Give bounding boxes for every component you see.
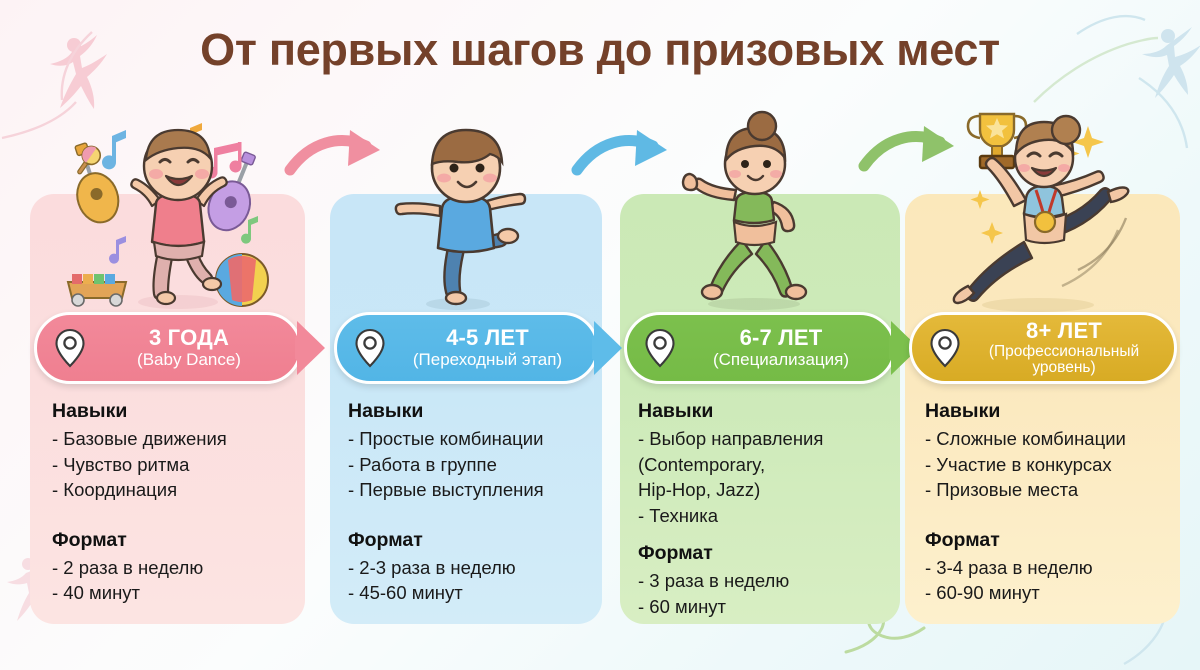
location-pin-icon (645, 329, 675, 367)
skills-list: - Выбор направления (Contemporary, Hip-H… (638, 426, 893, 528)
list-item: - Участие в конкурсах (925, 452, 1175, 478)
badge-subtitle: (Профессиональный уровень) (966, 344, 1162, 377)
list-item: - Простые комбинации (348, 426, 598, 452)
list-item: - 2 раза в неделю (52, 555, 302, 581)
connector-arrow-1 (297, 321, 325, 375)
stage-details-4-5-years: Навыки - Простые комбинации - Работа в г… (348, 400, 598, 606)
format-list: - 3-4 раза в неделю - 60-90 минут (925, 555, 1175, 606)
skills-list: - Базовые движения - Чувство ритма - Коо… (52, 426, 302, 503)
badge-age: 4-5 ЛЕТ (391, 326, 584, 350)
progress-arrow-2-icon (575, 126, 685, 186)
badge-text-group: 4-5 ЛЕТ (Переходный этап) (391, 326, 596, 369)
list-item: - 60 минут (638, 594, 893, 620)
illustration-toddler-dancing (38, 112, 308, 312)
list-item: - Техника (638, 503, 893, 529)
stage-details-3-years: Навыки - Базовые движения - Чувство ритм… (52, 400, 302, 606)
format-heading: Формат (52, 529, 302, 552)
stage-details-6-7-years: Навыки - Выбор направления (Contemporary… (638, 400, 893, 619)
progress-arrow-3-icon (862, 122, 972, 182)
badge-text-group: 6-7 ЛЕТ (Специализация) (681, 326, 893, 369)
format-heading: Формат (638, 542, 893, 565)
page-title: От первых шагов до призовых мест (0, 24, 1200, 76)
list-item: - Первые выступления (348, 477, 598, 503)
list-item: - 45-60 минут (348, 580, 598, 606)
list-item: - Выбор направления (Contemporary, Hip-H… (638, 426, 893, 503)
skills-heading: Навыки (925, 400, 1175, 423)
list-item: - 60-90 минут (925, 580, 1175, 606)
list-item: - 3 раза в неделю (638, 568, 893, 594)
badge-subtitle: (Переходный этап) (391, 351, 584, 369)
badge-age: 6-7 ЛЕТ (681, 326, 881, 350)
list-item: - Координация (52, 477, 302, 503)
list-item: - 2-3 раза в неделю (348, 555, 598, 581)
progress-arrow-1-icon (288, 126, 398, 186)
location-pin-icon (355, 329, 385, 367)
list-item: - Работа в группе (348, 452, 598, 478)
stage-badge-8-plus-years[interactable]: 8+ ЛЕТ (Профессиональный уровень) (909, 312, 1177, 384)
stage-badge-6-7-years[interactable]: 6-7 ЛЕТ (Специализация) (624, 312, 896, 384)
stage-badge-3-years[interactable]: 3 ГОДА (Baby Dance) (34, 312, 302, 384)
location-pin-icon (55, 329, 85, 367)
skills-list: - Простые комбинации - Работа в группе -… (348, 426, 598, 503)
connector-arrow-2 (594, 321, 622, 375)
list-item: - Базовые движения (52, 426, 302, 452)
format-list: - 3 раза в неделю - 60 минут (638, 568, 893, 619)
badge-age: 3 ГОДА (91, 326, 287, 350)
badge-text-group: 3 ГОДА (Baby Dance) (91, 326, 299, 369)
skills-heading: Навыки (52, 400, 302, 423)
location-pin-icon (930, 329, 960, 367)
format-heading: Формат (925, 529, 1175, 552)
badge-text-group: 8+ ЛЕТ (Профессиональный уровень) (966, 319, 1174, 377)
list-item: - 3-4 раза в неделю (925, 555, 1175, 581)
stage-details-8-plus-years: Навыки - Сложные комбинации - Участие в … (925, 400, 1175, 606)
stage-badge-4-5-years[interactable]: 4-5 ЛЕТ (Переходный этап) (334, 312, 599, 384)
format-list: - 2 раза в неделю - 40 минут (52, 555, 302, 606)
list-item: - 40 минут (52, 580, 302, 606)
badge-age: 8+ ЛЕТ (966, 319, 1162, 343)
badge-subtitle: (Baby Dance) (91, 351, 287, 369)
list-item: - Сложные комбинации (925, 426, 1175, 452)
list-item: - Призовые места (925, 477, 1175, 503)
skills-heading: Навыки (638, 400, 893, 423)
list-item: - Чувство ритма (52, 452, 302, 478)
skills-heading: Навыки (348, 400, 598, 423)
badge-subtitle: (Специализация) (681, 351, 881, 369)
format-list: - 2-3 раза в неделю - 45-60 минут (348, 555, 598, 606)
illustration-boy-balancing (370, 112, 580, 312)
skills-list: - Сложные комбинации - Участие в конкурс… (925, 426, 1175, 503)
format-heading: Формат (348, 529, 598, 552)
